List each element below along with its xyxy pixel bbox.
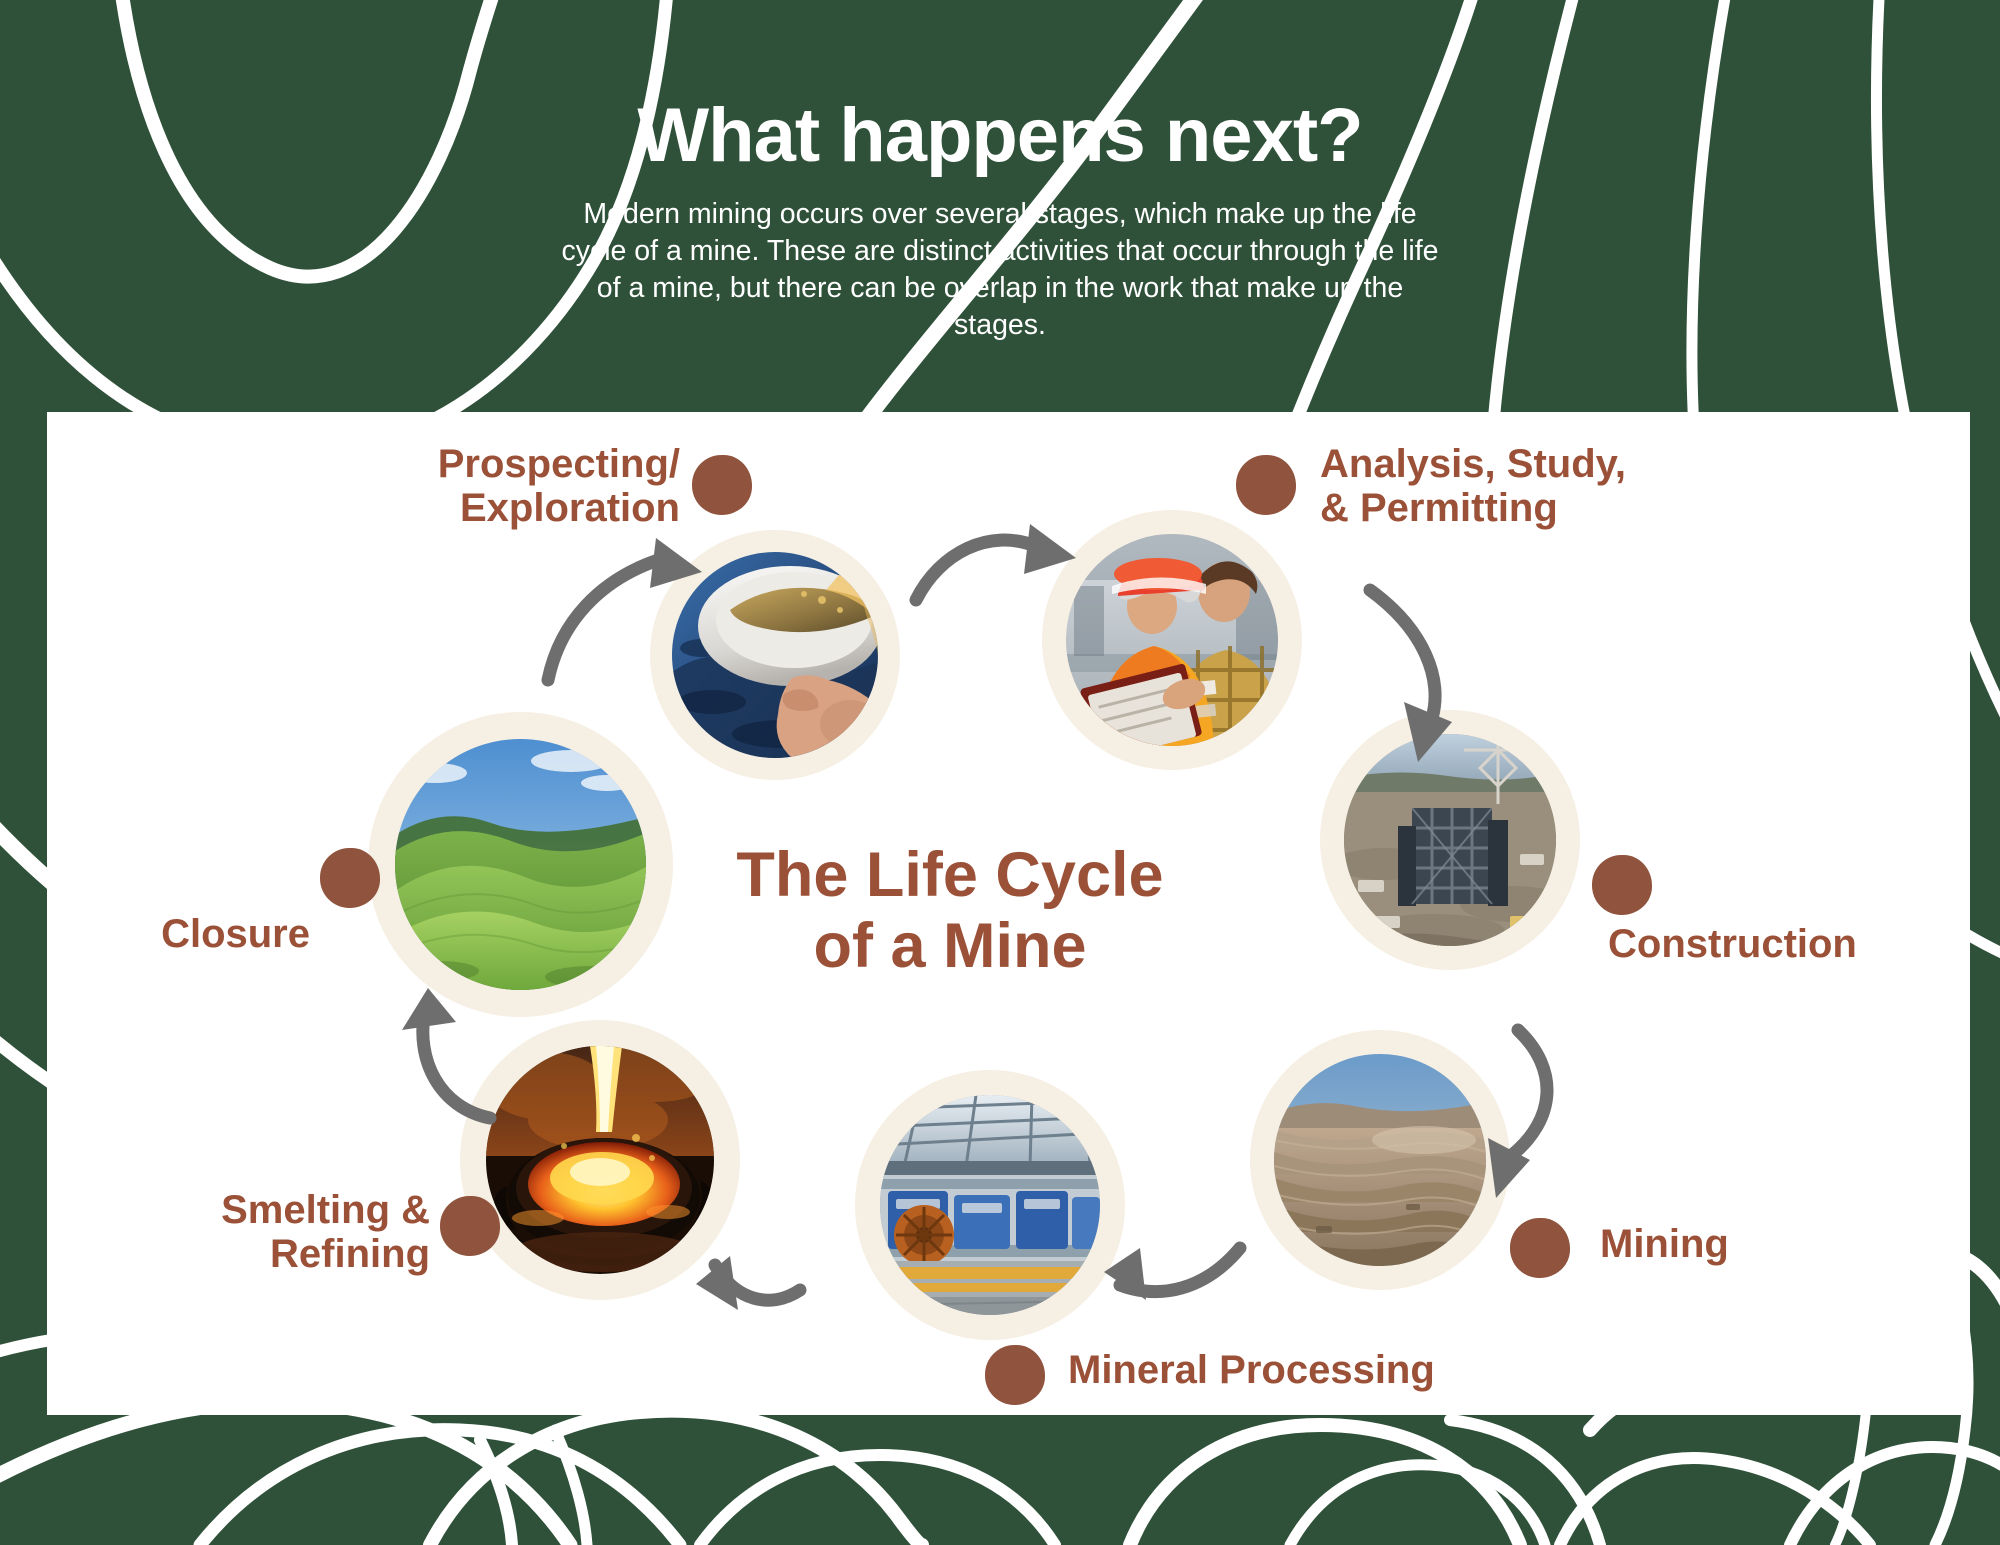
intro-paragraph: Modern mining occurs over several stages… — [560, 196, 1440, 344]
page-title: What happens next? — [0, 0, 2000, 174]
stage-label-closure: Closure — [40, 912, 310, 956]
construction-site-photo — [1344, 734, 1556, 946]
stage-label-smelting-refining: Smelting & Refining — [70, 1188, 430, 1276]
gold-panning-photo — [672, 552, 878, 758]
molten-metal-ladle-photo — [486, 1046, 714, 1274]
stage-label-prospecting-exploration: Prospecting/ Exploration — [310, 442, 680, 530]
engineers-reviewing-plans-photo — [1066, 534, 1278, 746]
dot-prospecting — [692, 455, 752, 515]
stage-label-mineral-processing: Mineral Processing — [1068, 1348, 1688, 1392]
dot-analysis — [1236, 455, 1296, 515]
open-pit-mine-photo — [1274, 1054, 1486, 1266]
dot-mining — [1510, 1218, 1570, 1278]
green-hills-reclamation-photo — [395, 739, 646, 990]
stage-label-mining: Mining — [1600, 1222, 1900, 1266]
dot-construction — [1592, 855, 1652, 915]
cycle-title: The Life Cycle of a Mine — [660, 840, 1240, 981]
stage-label-construction: Construction — [1608, 922, 1988, 966]
dot-smelting — [440, 1196, 500, 1256]
header-block: What happens next? Modern mining occurs … — [0, 0, 2000, 344]
dot-closure — [320, 848, 380, 908]
processing-plant-photo — [880, 1095, 1100, 1315]
infographic-canvas: What happens next? Modern mining occurs … — [0, 0, 2000, 1545]
dot-processing — [985, 1345, 1045, 1405]
stage-label-analysis-study-permitting: Analysis, Study, & Permitting — [1320, 442, 1880, 530]
